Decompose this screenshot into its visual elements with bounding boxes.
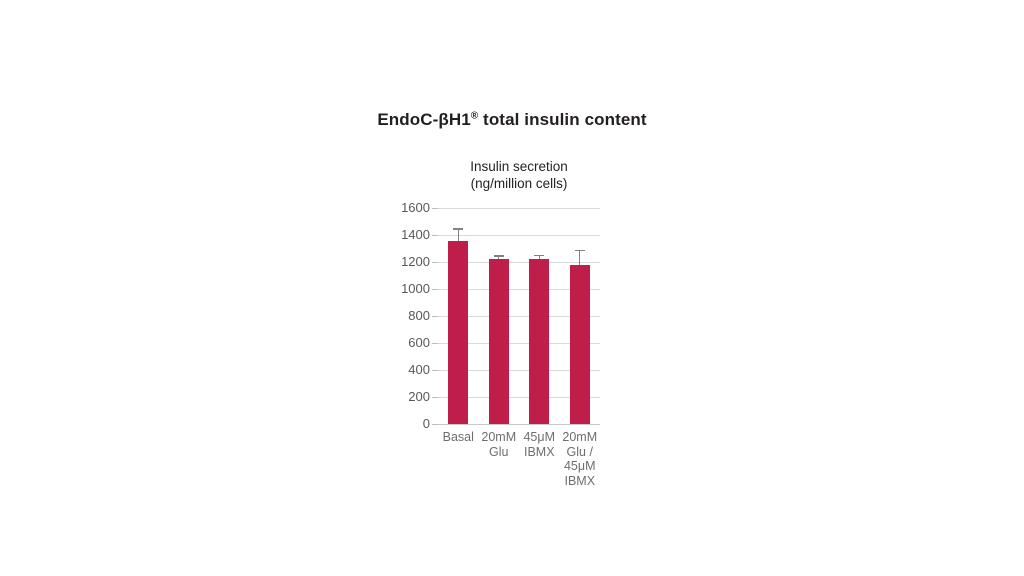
- x-category-label-line: Glu: [479, 445, 520, 460]
- x-category-label-line: IBMX: [519, 445, 560, 460]
- y-tick-label: 200: [372, 389, 430, 404]
- y-tick-label: 1600: [372, 200, 430, 215]
- bar: [570, 265, 590, 424]
- y-axis-caption-line1: Insulin secretion: [438, 158, 600, 175]
- chart-title-main: EndoC-βH1: [377, 110, 470, 129]
- x-category-label: Basal: [438, 430, 479, 445]
- x-category-label-line: 20mM: [479, 430, 520, 445]
- chart-title-tail: total insulin content: [478, 110, 646, 129]
- bar-series: [438, 208, 600, 424]
- bar: [529, 259, 549, 424]
- x-category-label-line: IBMX: [560, 474, 601, 489]
- x-category-label-line: Glu /: [560, 445, 601, 460]
- chart-figure: EndoC-βH1® total insulin content Insulin…: [0, 0, 1024, 576]
- y-axis-tick-labels: 16001400120010008006004002000: [372, 208, 430, 424]
- y-tick-label: 1000: [372, 281, 430, 296]
- error-bar-cap: [575, 250, 585, 252]
- x-category-label-line: 45μM: [560, 459, 601, 474]
- y-tick-label: 800: [372, 308, 430, 323]
- gridline: [438, 424, 600, 425]
- error-bar-whisker: [458, 228, 459, 241]
- x-category-label: 20mMGlu /45μMIBMX: [560, 430, 601, 488]
- chart-title: EndoC-βH1® total insulin content: [0, 110, 1024, 130]
- y-tick-label: 1400: [372, 227, 430, 242]
- x-category-label: 20mMGlu: [479, 430, 520, 459]
- y-tick-label: 1200: [372, 254, 430, 269]
- error-bar-whisker: [579, 250, 580, 265]
- x-category-label: 45μMIBMX: [519, 430, 560, 459]
- y-tick-label: 400: [372, 362, 430, 377]
- error-bar-cap: [534, 255, 544, 257]
- y-tick-label: 600: [372, 335, 430, 350]
- y-axis-caption: Insulin secretion (ng/million cells): [438, 158, 600, 192]
- y-tick-label: 0: [372, 416, 430, 431]
- x-category-label-line: 20mM: [560, 430, 601, 445]
- x-category-label-line: Basal: [438, 430, 479, 445]
- x-axis-category-labels: Basal20mMGlu45μMIBMX20mMGlu /45μMIBMX: [431, 430, 611, 500]
- y-axis-caption-line2: (ng/million cells): [438, 175, 600, 192]
- error-bar-cap: [453, 228, 463, 230]
- error-bar-cap: [494, 255, 504, 257]
- bar: [489, 259, 509, 424]
- bar: [448, 241, 468, 424]
- x-category-label-line: 45μM: [519, 430, 560, 445]
